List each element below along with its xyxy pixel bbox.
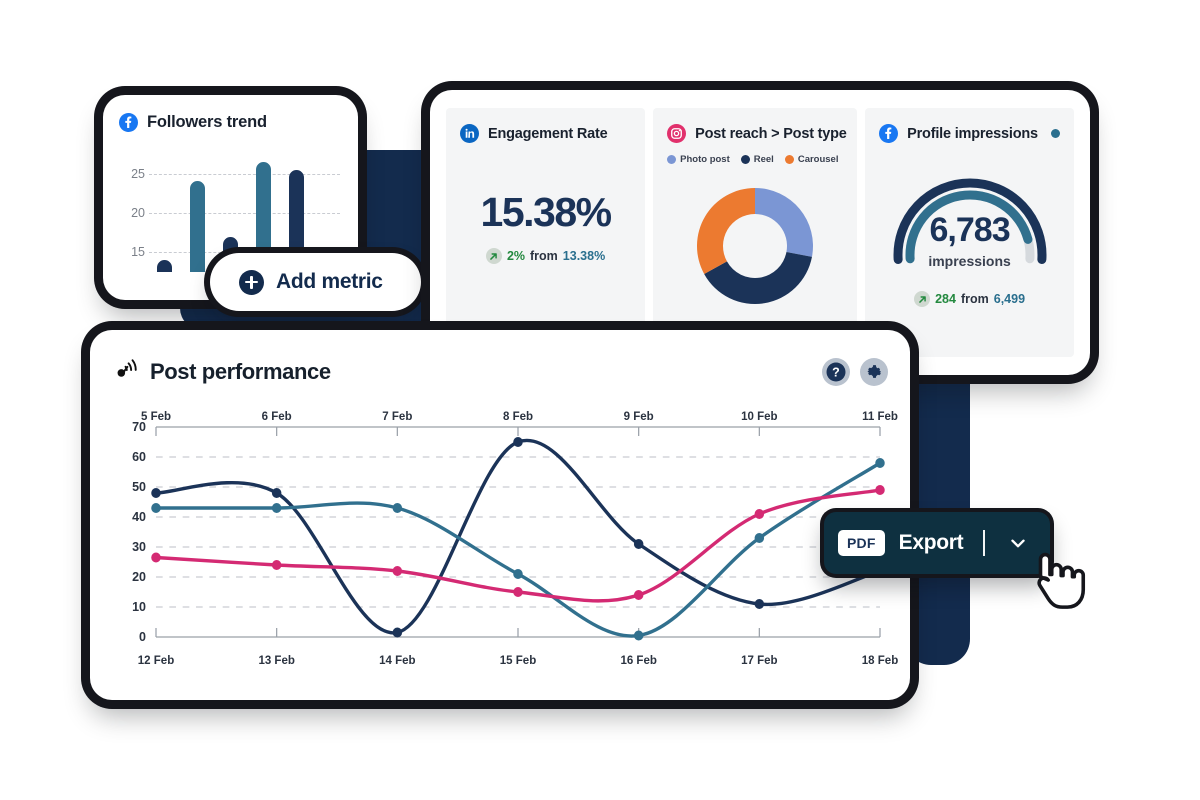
dashboard-illustration: Followers trend 152025 Add metric Engage… — [0, 0, 1200, 800]
line-data-point — [513, 569, 523, 579]
line-chart-bottom-tick: 15 Feb — [500, 655, 536, 667]
help-button[interactable]: ? — [822, 358, 850, 386]
line-chart-y-tick: 70 — [112, 420, 146, 434]
impressions-tile-title: Profile impressions — [907, 126, 1038, 142]
line-data-point — [875, 485, 885, 495]
line-data-point — [634, 539, 644, 549]
line-data-point — [272, 488, 282, 498]
facebook-icon — [119, 113, 138, 132]
line-data-point — [634, 590, 644, 600]
impressions-gauge-chart: 6,783 impressions — [879, 151, 1060, 277]
legend-color-dot — [667, 155, 676, 164]
post-reach-tile-header: Post reach > Post type — [667, 124, 843, 143]
instagram-icon — [667, 124, 686, 143]
engagement-delta-word: from — [530, 249, 558, 263]
legend-color-dot — [785, 155, 794, 164]
export-button[interactable]: PDF Export — [824, 512, 1050, 574]
line-data-point — [151, 503, 161, 513]
legend-item: Carousel — [785, 154, 839, 165]
line-series-path — [156, 440, 880, 633]
line-chart-bottom-tick: 14 Feb — [379, 655, 415, 667]
post-performance-card: Post performance ? 5 Feb6 Feb7 Feb8 Feb — [90, 330, 910, 700]
line-chart-top-tick: 8 Feb — [503, 411, 533, 423]
line-data-point — [151, 488, 161, 498]
line-data-point — [755, 509, 765, 519]
tiktok-icon — [112, 356, 138, 387]
line-chart-y-tick: 10 — [112, 600, 146, 614]
line-data-point — [513, 437, 523, 447]
line-data-point — [875, 458, 885, 468]
export-divider — [983, 530, 985, 556]
line-chart-svg — [156, 427, 880, 637]
line-chart-bottom-tick: 18 Feb — [862, 655, 898, 667]
engagement-delta-previous: 13.38% — [563, 249, 605, 263]
engagement-delta-value: 2% — [507, 249, 525, 263]
trend-up-arrow-icon — [914, 291, 930, 307]
bar — [190, 181, 205, 272]
legend-color-dot — [741, 155, 750, 164]
line-data-point — [513, 587, 523, 597]
line-chart-top-tick: 10 Feb — [741, 411, 777, 423]
engagement-rate-tile: Engagement Rate 15.38% 2% from 13.38% — [446, 108, 645, 357]
pdf-format-badge: PDF — [838, 530, 885, 556]
line-chart-top-tick: 6 Feb — [262, 411, 292, 423]
facebook-icon — [879, 124, 898, 143]
profile-impressions-tile: Profile impressions 6,783 impressions 28… — [865, 108, 1074, 357]
line-data-point — [272, 503, 282, 513]
trend-up-arrow-icon — [486, 248, 502, 264]
post-reach-donut-chart — [667, 177, 843, 315]
line-chart-top-tick: 7 Feb — [382, 411, 412, 423]
line-data-point — [393, 628, 403, 638]
line-data-point — [151, 553, 161, 563]
legend-item: Reel — [741, 154, 774, 165]
chevron-down-icon[interactable] — [1007, 532, 1029, 554]
line-chart-y-tick: 60 — [112, 450, 146, 464]
plus-circle-icon — [239, 270, 264, 295]
bar — [157, 260, 172, 272]
line-chart-y-tick: 0 — [112, 630, 146, 644]
followers-card-header: Followers trend — [119, 113, 342, 132]
followers-card-title: Followers trend — [147, 113, 267, 132]
post-reach-legend: Photo postReelCarousel — [667, 154, 843, 165]
bar-chart-y-tick: 15 — [119, 245, 145, 259]
legend-label: Photo post — [680, 154, 730, 165]
line-data-point — [393, 503, 403, 513]
donut-slice — [697, 188, 755, 274]
line-chart-bottom-tick: 12 Feb — [138, 655, 174, 667]
line-chart-top-tick: 9 Feb — [624, 411, 654, 423]
engagement-rate-value: 15.38% — [460, 189, 631, 236]
add-metric-button[interactable]: Add metric — [210, 253, 421, 311]
legend-label: Reel — [754, 154, 774, 165]
line-chart-bottom-tick: 13 Feb — [258, 655, 294, 667]
impressions-value: 6,783 — [879, 211, 1060, 250]
bar-chart-y-tick: 25 — [119, 167, 145, 181]
linkedin-icon — [460, 124, 479, 143]
line-chart-y-tick: 50 — [112, 480, 146, 494]
impressions-delta: 284 from 6,499 — [879, 291, 1060, 307]
line-chart-y-tick: 20 — [112, 570, 146, 584]
legend-label: Carousel — [798, 154, 839, 165]
impressions-unit: impressions — [879, 253, 1060, 269]
post-performance-line-chart: 5 Feb6 Feb7 Feb8 Feb9 Feb10 Feb11 Feb12 … — [112, 411, 888, 673]
line-data-point — [755, 599, 765, 609]
live-status-dot — [1051, 129, 1060, 138]
impressions-delta-previous: 6,499 — [994, 292, 1025, 306]
post-reach-tile-title: Post reach > Post type — [695, 126, 847, 142]
post-performance-header: Post performance ? — [112, 356, 888, 387]
export-label: Export — [899, 531, 964, 555]
post-performance-actions: ? — [822, 358, 888, 386]
impressions-delta-word: from — [961, 292, 989, 306]
line-chart-y-tick: 40 — [112, 510, 146, 524]
engagement-tile-title: Engagement Rate — [488, 126, 607, 142]
line-chart-bottom-tick: 17 Feb — [741, 655, 777, 667]
donut-svg — [686, 177, 824, 315]
engagement-delta: 2% from 13.38% — [460, 248, 631, 264]
post-performance-title: Post performance — [150, 359, 331, 385]
line-chart-plot-area: 5 Feb6 Feb7 Feb8 Feb9 Feb10 Feb11 Feb12 … — [156, 427, 880, 637]
line-chart-top-tick: 11 Feb — [862, 411, 898, 423]
line-data-point — [272, 560, 282, 570]
settings-button[interactable] — [860, 358, 888, 386]
add-metric-label: Add metric — [276, 270, 383, 294]
line-data-point — [634, 631, 644, 641]
line-data-point — [755, 533, 765, 543]
bar-chart-y-tick: 20 — [119, 206, 145, 220]
line-chart-y-tick: 30 — [112, 540, 146, 554]
line-data-point — [393, 566, 403, 576]
impressions-tile-header: Profile impressions — [879, 124, 1060, 143]
engagement-tile-header: Engagement Rate — [460, 124, 631, 143]
impressions-delta-value: 284 — [935, 292, 956, 306]
line-chart-bottom-tick: 16 Feb — [620, 655, 656, 667]
donut-slice — [755, 188, 813, 257]
legend-item: Photo post — [667, 154, 730, 165]
post-reach-tile: Post reach > Post type Photo postReelCar… — [653, 108, 857, 357]
svg-text:?: ? — [832, 365, 840, 379]
